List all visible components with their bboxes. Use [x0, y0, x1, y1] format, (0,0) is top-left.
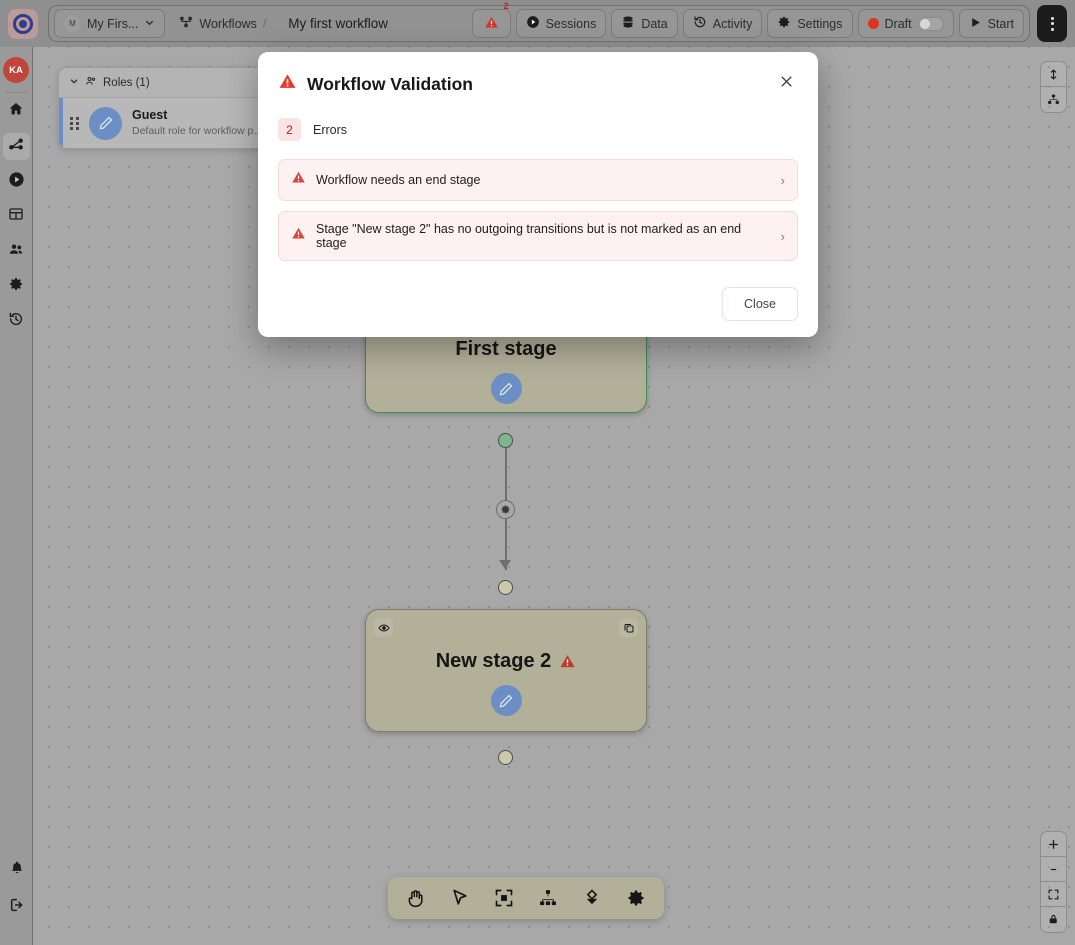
- role-text-block: Guest Default role for workflow p..: [132, 107, 259, 138]
- chevron-down-icon: [144, 17, 155, 31]
- chevron-down-icon[interactable]: [69, 76, 79, 89]
- logo-ring-icon: [13, 14, 33, 34]
- diamond-icon: [582, 888, 602, 908]
- dialog-title-group: Workflow Validation: [278, 72, 473, 96]
- canvas-toolbar: [388, 877, 664, 919]
- drag-handle-icon[interactable]: [70, 117, 84, 130]
- stage-edit-button[interactable]: [491, 373, 522, 404]
- stage-edit-button[interactable]: [491, 685, 522, 716]
- arrows-vertical-icon: [1047, 68, 1060, 81]
- fit-screen-tool-button[interactable]: [486, 882, 522, 914]
- kebab-menu-icon[interactable]: [1037, 5, 1067, 42]
- pan-tool-button[interactable]: [398, 882, 434, 914]
- arrow-down-icon: [499, 560, 511, 569]
- minus-icon: [1047, 863, 1060, 876]
- validation-count-badge: 2: [504, 1, 509, 11]
- list-item[interactable]: Workflow needs an end stage ›: [278, 159, 798, 201]
- sidebar-item-workflows[interactable]: [3, 133, 30, 160]
- canvas-zoom-controls: [1040, 831, 1067, 933]
- lock-icon: [1047, 913, 1060, 926]
- sidebar-item-history[interactable]: [3, 308, 30, 335]
- hierarchy-icon: [1047, 93, 1060, 106]
- validation-warning-button[interactable]: 2: [472, 9, 511, 38]
- canvas-layout-controls: [1040, 61, 1067, 113]
- eye-icon[interactable]: [374, 618, 393, 637]
- activity-button[interactable]: Activity: [683, 9, 763, 38]
- stage-input-port-second[interactable]: [498, 580, 513, 595]
- error-list: Workflow needs an end stage › Stage "New…: [278, 159, 798, 261]
- stage-output-port-second[interactable]: [498, 750, 513, 765]
- workspace-avatar: M: [64, 15, 81, 32]
- activity-label: Activity: [713, 17, 753, 31]
- plus-icon: [1047, 838, 1060, 851]
- dialog-header: Workflow Validation: [278, 72, 798, 96]
- play-icon: [969, 16, 982, 32]
- warning-triangle-icon: [291, 226, 306, 246]
- history-icon: [8, 311, 24, 332]
- dialog-title: Workflow Validation: [307, 74, 473, 95]
- data-button[interactable]: Data: [611, 9, 677, 38]
- breadcrumb-separator: /: [263, 17, 266, 31]
- status-badge: 2: [278, 118, 301, 141]
- sidebar-divider: [5, 92, 28, 93]
- workspace-selector[interactable]: M My Firs...: [54, 9, 165, 38]
- start-label: Start: [988, 17, 1014, 31]
- cursor-icon: [450, 888, 470, 908]
- hand-icon: [406, 888, 426, 908]
- settings-label: Settings: [797, 17, 842, 31]
- app-root: M My Firs... Workflows / My first workfl…: [0, 0, 1075, 945]
- fit-screen-icon: [494, 888, 514, 908]
- workflow-icon: [8, 136, 24, 157]
- sidebar-bottom-group: [0, 857, 33, 931]
- record-dot-icon: [868, 18, 879, 29]
- sidebar-item-sessions[interactable]: [3, 168, 30, 195]
- roles-panel-title: Roles (1): [103, 77, 150, 89]
- settings-tool-button[interactable]: [618, 882, 654, 914]
- page-title: My first workflow: [280, 16, 396, 31]
- users-icon: [8, 241, 25, 263]
- database-icon: [621, 15, 635, 32]
- close-button[interactable]: Close: [722, 287, 798, 321]
- pencil-icon: [89, 107, 122, 140]
- settings-button[interactable]: Settings: [767, 9, 852, 38]
- header-toolbar: M My Firs... Workflows / My first workfl…: [48, 5, 1030, 42]
- stage-node-second[interactable]: New stage 2: [365, 609, 647, 732]
- sidebar-item-data[interactable]: [3, 203, 30, 230]
- data-label: Data: [641, 17, 667, 31]
- sessions-label: Sessions: [546, 17, 597, 31]
- left-sidebar: KA: [0, 47, 33, 945]
- workflow-icon: [179, 15, 193, 32]
- sessions-button[interactable]: Sessions: [516, 9, 607, 38]
- top-header: M My Firs... Workflows / My first workfl…: [0, 0, 1075, 47]
- fit-view-button[interactable]: [1041, 882, 1066, 907]
- table-grid-icon: [8, 206, 24, 227]
- zoom-out-button[interactable]: [1041, 857, 1066, 882]
- stage-output-port-start[interactable]: [498, 433, 513, 448]
- zoom-in-button[interactable]: [1041, 832, 1066, 857]
- play-circle-icon: [526, 15, 540, 32]
- error-summary-label: Errors: [313, 123, 347, 137]
- stage-title: New stage 2: [366, 610, 646, 673]
- history-icon: [693, 15, 707, 32]
- warning-triangle-icon: [291, 170, 306, 190]
- sidebar-item-logout[interactable]: [3, 894, 30, 921]
- avatar[interactable]: KA: [3, 57, 29, 83]
- gear-icon: [626, 888, 646, 908]
- sidebar-item-home[interactable]: [3, 98, 30, 125]
- chevron-right-icon[interactable]: ›: [781, 173, 785, 188]
- gear-icon: [777, 15, 791, 32]
- start-button[interactable]: Start: [959, 9, 1024, 38]
- gear-icon: [500, 504, 511, 515]
- home-icon: [8, 101, 24, 122]
- logout-icon: [9, 897, 25, 918]
- bell-icon: [9, 860, 25, 881]
- workflow-validation-dialog: Workflow Validation 2 Errors Workflow ne…: [258, 52, 818, 337]
- draft-toggle[interactable]: [918, 17, 944, 31]
- auto-layout-vertical-button[interactable]: [1041, 62, 1066, 87]
- select-tool-button[interactable]: [442, 882, 478, 914]
- fit-view-icon: [1047, 888, 1060, 901]
- close-icon[interactable]: [775, 72, 798, 96]
- sidebar-item-users[interactable]: [3, 238, 30, 265]
- stage-title-text: New stage 2: [436, 650, 552, 673]
- users-icon: [85, 75, 97, 90]
- list-item[interactable]: Stage "New stage 2" has no outgoing tran…: [278, 211, 798, 261]
- gear-icon: [8, 276, 24, 297]
- sidebar-item-settings[interactable]: [3, 273, 30, 300]
- warning-triangle-icon: [278, 72, 297, 96]
- dialog-footer: Close: [278, 287, 798, 321]
- error-message: Stage "New stage 2" has no outgoing tran…: [316, 222, 771, 250]
- breadcrumb-section: Workflows: [199, 17, 256, 31]
- warning-triangle-icon: [559, 653, 576, 670]
- chevron-right-icon[interactable]: ›: [781, 229, 785, 244]
- app-logo-icon[interactable]: [8, 9, 38, 39]
- hierarchy-icon: [538, 888, 558, 908]
- error-summary: 2 Errors: [278, 118, 798, 141]
- auto-layout-tree-button[interactable]: [1041, 87, 1066, 112]
- warning-triangle-icon: [484, 15, 499, 33]
- pencil-icon: [498, 381, 514, 397]
- lock-canvas-button[interactable]: [1041, 907, 1066, 932]
- role-description: Default role for workflow p..: [132, 124, 259, 138]
- copy-icon[interactable]: [619, 618, 638, 637]
- play-circle-icon: [8, 171, 25, 193]
- shape-tool-button[interactable]: [574, 882, 610, 914]
- draft-toggle-button[interactable]: Draft: [858, 9, 954, 38]
- layout-tool-button[interactable]: [530, 882, 566, 914]
- pencil-icon: [498, 693, 514, 709]
- sidebar-item-notifications[interactable]: [3, 857, 30, 884]
- role-name: Guest: [132, 107, 259, 124]
- draft-label: Draft: [885, 17, 912, 31]
- breadcrumb[interactable]: Workflows /: [170, 9, 275, 38]
- workspace-name: My Firs...: [87, 17, 138, 31]
- transition-settings-button[interactable]: [496, 500, 515, 519]
- error-message: Workflow needs an end stage: [316, 173, 771, 187]
